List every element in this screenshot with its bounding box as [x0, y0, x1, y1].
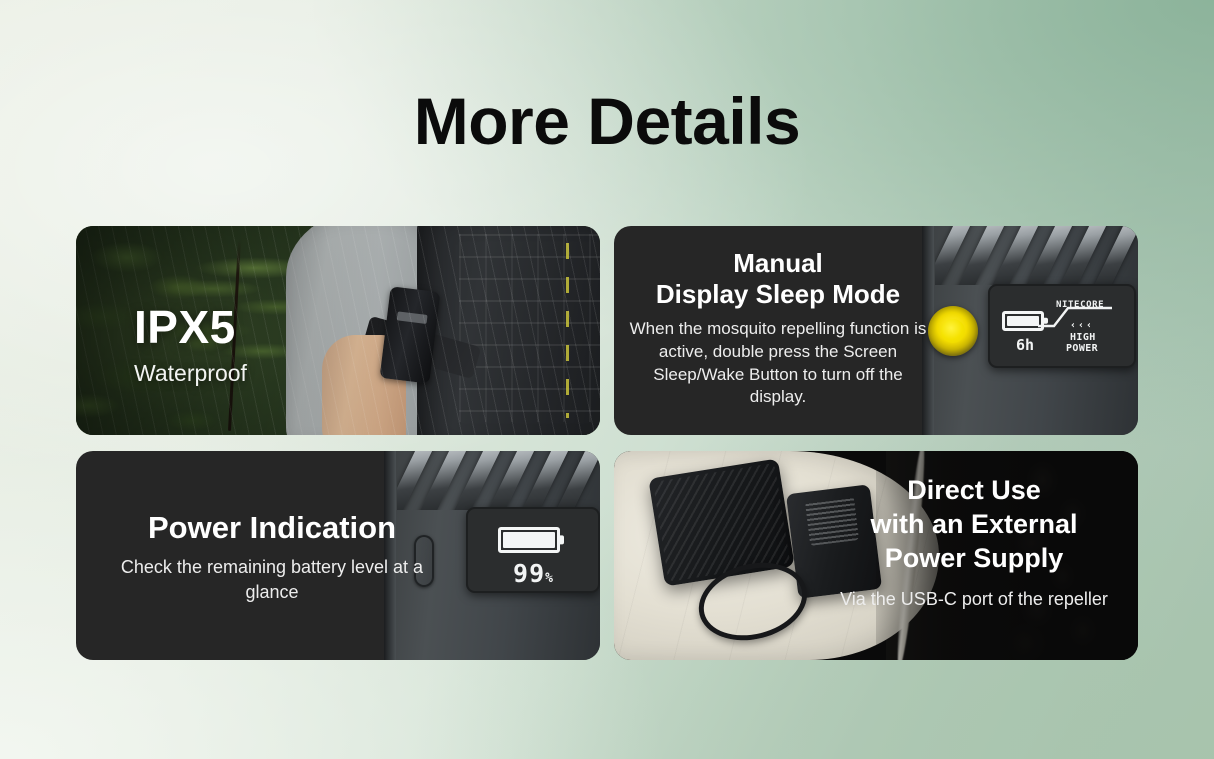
vent-slats	[935, 226, 1138, 285]
feature-card-power-indication[interactable]: 99% Power Indication Check the remaining…	[76, 451, 600, 660]
display-sleep-heading-line1: Manual	[626, 248, 930, 279]
ipx5-caption: IPX5 Waterproof	[134, 300, 247, 387]
display-sleep-heading-line2: Display Sleep Mode	[626, 279, 930, 310]
vent-slats	[397, 451, 600, 510]
ipx5-subheading: Waterproof	[134, 360, 247, 387]
feature-card-display-sleep-mode[interactable]: NITECORE 6h ‹‹‹ HIGH POWER Manual Displa…	[614, 226, 1138, 435]
more-details-page: More Details IPX5 Waterproof	[0, 0, 1214, 759]
lcd-mode-line2: POWER	[1066, 343, 1098, 354]
external-power-heading-line2: with an External	[824, 507, 1124, 541]
feature-card-external-power[interactable]: Direct Use with an External Power Supply…	[614, 451, 1138, 660]
power-indication-body: Check the remaining battery level at a g…	[98, 555, 446, 605]
external-power-caption: Direct Use with an External Power Supply…	[824, 473, 1124, 612]
external-power-heading-line3: Power Supply	[824, 541, 1124, 575]
repeller-closeup-photo: NITECORE 6h ‹‹‹ HIGH POWER	[922, 226, 1138, 435]
lcd-runtime: 6h	[1016, 336, 1034, 354]
device-lcd-screen: NITECORE 6h ‹‹‹ HIGH POWER	[988, 284, 1136, 368]
battery-icon	[498, 527, 560, 553]
ipx5-heading: IPX5	[134, 300, 247, 354]
external-power-heading-line1: Direct Use	[824, 473, 1124, 507]
display-sleep-mode-caption: Manual Display Sleep Mode When the mosqu…	[626, 248, 930, 409]
external-power-body: Via the USB-C port of the repeller	[824, 587, 1124, 611]
power-indication-caption: Power Indication Check the remaining bat…	[98, 511, 446, 604]
feature-card-ipx5[interactable]: IPX5 Waterproof	[76, 226, 600, 435]
power-indication-heading: Power Indication	[98, 511, 446, 546]
lcd-mode-line1: HIGH	[1070, 332, 1096, 343]
lcd-wave-icon: ‹‹‹	[1070, 320, 1094, 331]
battery-percent-value: 99	[513, 559, 545, 588]
device-lcd-screen: 99%	[466, 507, 600, 593]
battery-percent-symbol: %	[545, 571, 553, 586]
display-sleep-body: When the mosquito repelling function is …	[626, 318, 930, 408]
feature-card-grid: IPX5 Waterproof	[76, 226, 1138, 660]
screen-sleep-wake-button[interactable]	[928, 306, 978, 356]
page-title: More Details	[0, 88, 1214, 154]
